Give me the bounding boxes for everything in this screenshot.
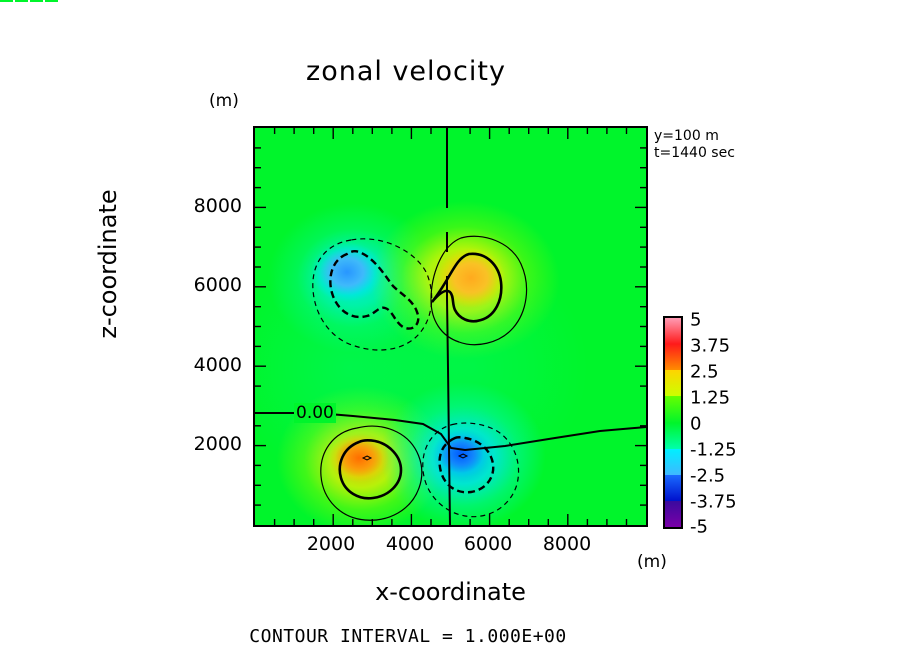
x-tick-label: 6000	[464, 533, 512, 555]
contour-field	[255, 128, 646, 525]
contour-label-horizontal: 0.00	[294, 403, 336, 423]
x-tick-label: 2000	[307, 533, 355, 555]
x-axis-title: x-coordinate	[253, 578, 648, 606]
y-tick-label: 2000	[184, 433, 242, 455]
y-tick-label: 8000	[184, 195, 242, 217]
contour-label-vertical: 0.00	[0, 0, 58, 2]
annotation-line-t: t=1440 sec	[654, 145, 735, 162]
colorbar-band-25-125	[665, 370, 681, 396]
colorbar-labels: 5 3.75 2.5 1.25 0 -1.25 -2.5 -3.75 -5	[690, 316, 770, 529]
colorbar-band-5-375	[665, 318, 681, 344]
contour-label-vertical-char: 0	[45, 0, 58, 2]
y-tick-label: 4000	[184, 354, 242, 376]
colorbar	[663, 316, 683, 529]
colorbar-tick-label: 2.5	[690, 362, 719, 383]
contour-label-vertical-char: 0	[0, 0, 13, 2]
colorbar-tick-label: 3.75	[690, 336, 730, 357]
y-axis-title: z-coordinate	[94, 144, 122, 384]
y-axis-unit-label: (m)	[209, 91, 239, 111]
colorbar-band-n25-n375	[665, 475, 681, 501]
x-tick-label: 4000	[386, 533, 434, 555]
x-ticks-top	[275, 128, 627, 139]
colorbar-tick-label: -3.75	[690, 492, 737, 513]
page-title-text: zonal velocity	[306, 56, 506, 87]
colorbar-band-0-n125	[665, 423, 681, 449]
figure-caption: CONTOUR INTERVAL = 1.000E+00	[0, 626, 904, 647]
axis-ticks	[255, 128, 646, 525]
colorbar-tick-label: 0	[690, 414, 701, 435]
colorbar-tick-label: 1.25	[690, 388, 730, 409]
y-tick-label: 6000	[184, 274, 242, 296]
colorbar-tick-label: -5	[690, 517, 708, 538]
contour-figure: zonal velocity (m) (m) z-coordinate x-co…	[0, 0, 904, 654]
colorbar-band-125-0	[665, 396, 681, 422]
plot-annotation: y=100 m t=1440 sec	[654, 128, 735, 162]
x-ticks-bottom	[275, 514, 627, 525]
colorbar-band-375-25	[665, 344, 681, 370]
plot-area	[253, 126, 648, 527]
annotation-line-y: y=100 m	[654, 128, 735, 145]
page-title: zonal velocity	[0, 56, 904, 87]
colorbar-tick-label: -2.5	[690, 466, 725, 487]
x-axis-unit-label: (m)	[637, 552, 667, 572]
y-ticks-right	[635, 148, 646, 505]
colorbar-tick-label: 5	[690, 310, 701, 331]
colorbar-tick-label: -1.25	[690, 440, 737, 461]
colorbar-band-n125-n25	[665, 449, 681, 475]
colorbar-band-n375-n5	[665, 501, 681, 527]
y-ticks-left	[255, 148, 266, 505]
figure-caption-text: CONTOUR INTERVAL = 1.000E+00	[249, 626, 566, 647]
x-tick-label: 8000	[543, 533, 591, 555]
